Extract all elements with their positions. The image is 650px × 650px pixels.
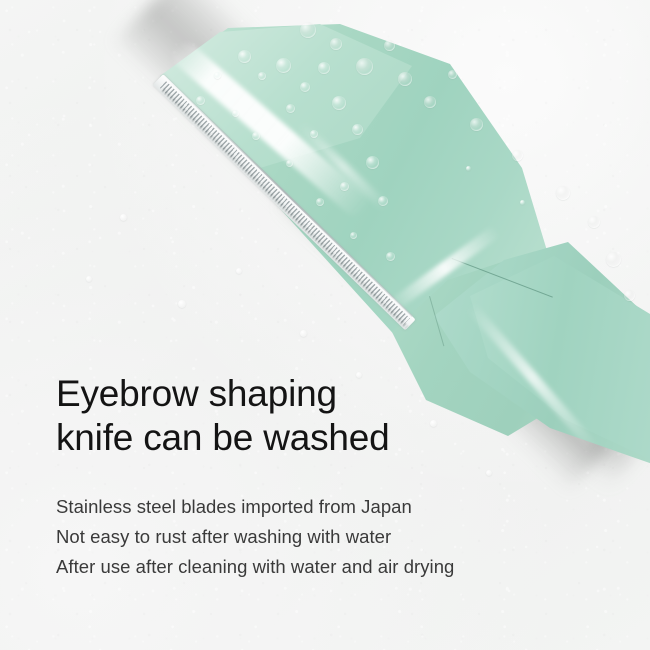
water-droplet bbox=[178, 300, 186, 308]
water-droplet bbox=[316, 198, 324, 206]
water-droplet bbox=[214, 72, 221, 79]
water-droplet bbox=[398, 72, 412, 86]
feature-bullet-list: Stainless steel blades imported from Jap… bbox=[56, 492, 616, 582]
water-droplet bbox=[300, 22, 316, 38]
headline: Eyebrow shaping knife can be washed bbox=[56, 372, 616, 460]
water-droplet bbox=[350, 232, 357, 239]
water-droplet bbox=[120, 214, 127, 221]
water-droplet bbox=[86, 276, 92, 282]
water-droplet bbox=[318, 62, 330, 74]
water-droplet bbox=[470, 118, 483, 131]
water-droplet bbox=[588, 216, 600, 228]
water-droplet bbox=[366, 156, 379, 169]
water-droplet bbox=[466, 166, 471, 171]
water-droplet bbox=[232, 110, 239, 117]
water-droplet bbox=[236, 268, 242, 274]
water-droplet bbox=[196, 96, 205, 105]
water-droplet bbox=[340, 182, 349, 191]
water-droplet bbox=[352, 124, 363, 135]
water-droplet bbox=[252, 132, 260, 140]
water-droplet bbox=[356, 58, 373, 75]
water-droplet bbox=[286, 104, 295, 113]
water-droplet bbox=[424, 96, 436, 108]
water-droplet bbox=[258, 72, 266, 80]
feature-bullet: Not easy to rust after washing with wate… bbox=[56, 522, 616, 552]
water-droplet bbox=[286, 160, 293, 167]
water-droplet bbox=[378, 196, 388, 206]
water-droplet bbox=[300, 82, 310, 92]
water-droplet bbox=[520, 200, 525, 205]
water-droplet bbox=[556, 186, 570, 200]
water-droplet bbox=[384, 40, 395, 51]
water-droplet bbox=[386, 252, 395, 261]
water-droplet bbox=[238, 50, 251, 63]
water-droplet bbox=[300, 330, 307, 337]
water-droplet bbox=[606, 252, 621, 267]
water-droplet bbox=[330, 38, 342, 50]
marketing-copy-block: Eyebrow shaping knife can be washed Stai… bbox=[56, 372, 616, 582]
feature-bullet: Stainless steel blades imported from Jap… bbox=[56, 492, 616, 522]
water-droplet bbox=[512, 150, 523, 161]
water-droplet bbox=[276, 58, 291, 73]
water-droplet bbox=[624, 290, 635, 301]
water-droplet bbox=[332, 96, 346, 110]
water-droplet bbox=[448, 70, 457, 79]
feature-bullet: After use after cleaning with water and … bbox=[56, 552, 616, 582]
water-droplet bbox=[310, 130, 318, 138]
product-marketing-image: Eyebrow shaping knife can be washed Stai… bbox=[0, 0, 650, 650]
